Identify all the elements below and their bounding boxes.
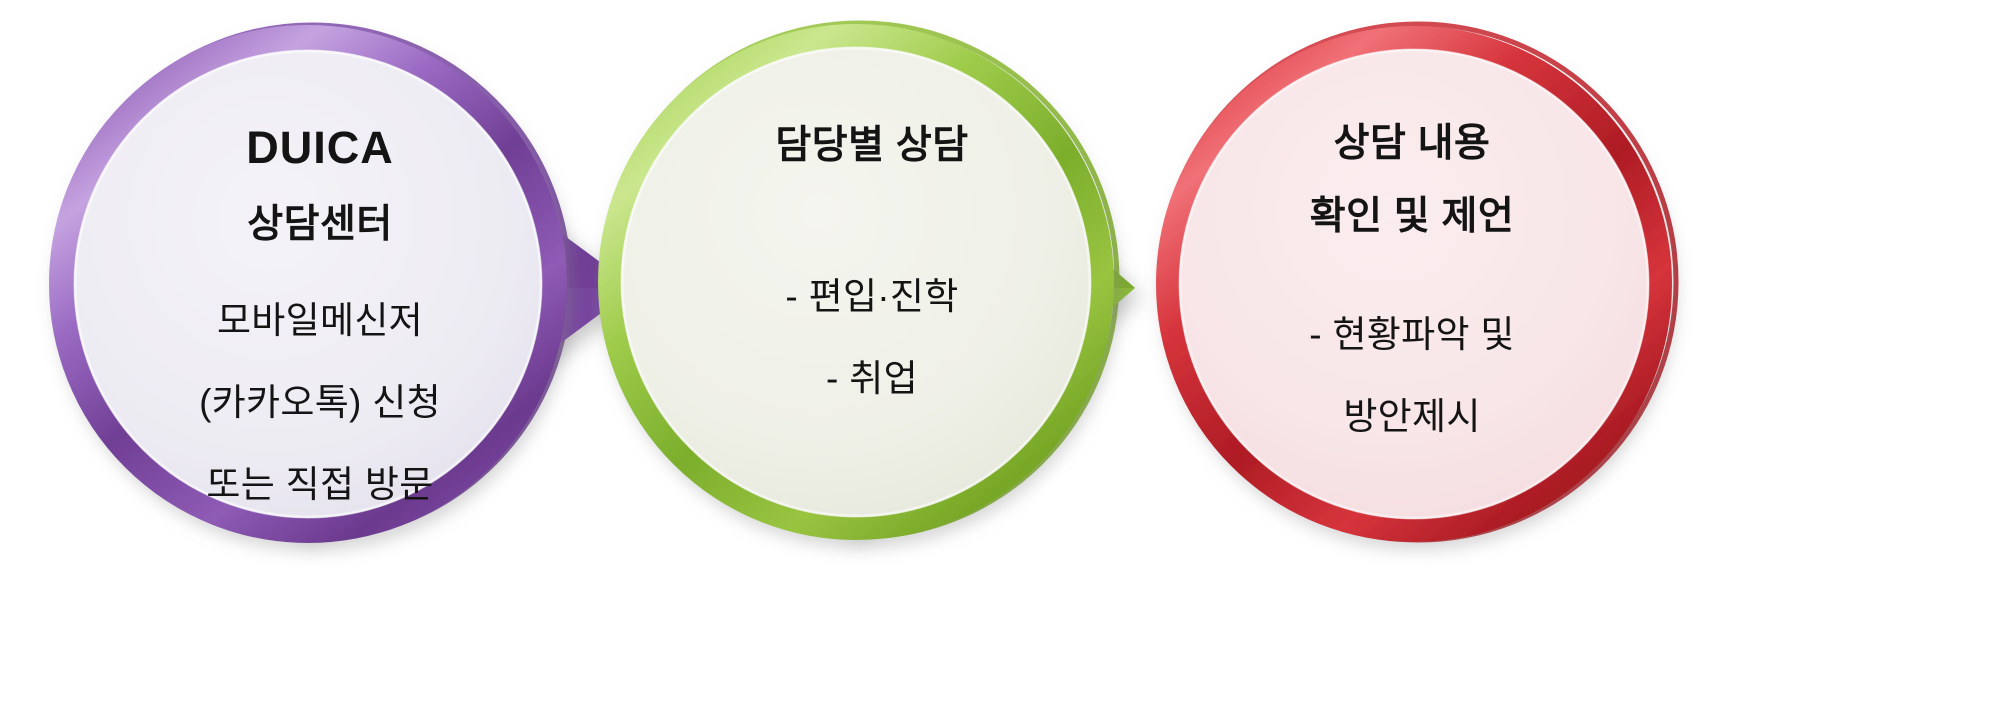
step-1-shape[interactable] [55,25,635,539]
step-3-shape[interactable] [1160,24,1676,540]
process-diagram: DUICA 상담센터 모바일메신저 (카카오톡) 신청 또는 직접 방문 담당별… [0,0,2008,720]
step-2-shape[interactable] [603,23,1135,537]
smartart-canvas [0,0,2008,720]
